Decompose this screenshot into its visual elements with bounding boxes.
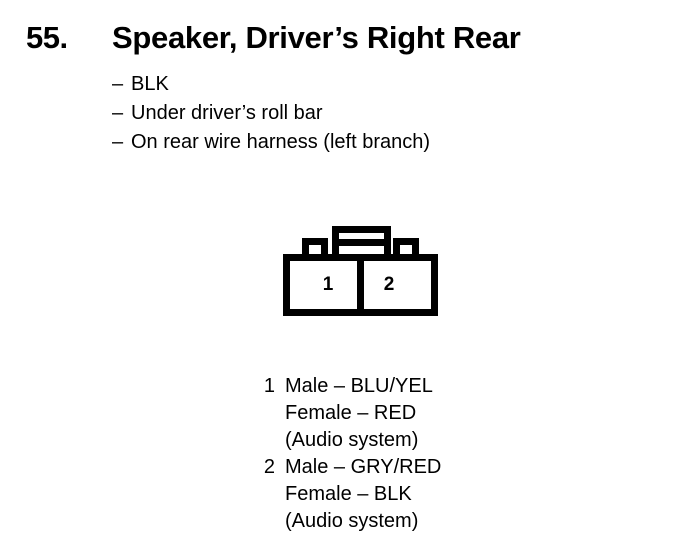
legend-pin-details: Male – BLU/YEL Female – RED (Audio syste…: [275, 373, 433, 454]
dash-icon: –: [112, 99, 131, 128]
list-item: – Under driver’s roll bar: [112, 99, 612, 128]
legend-row: 2 Male – GRY/RED Female – BLK (Audio sys…: [249, 454, 549, 535]
page-header: 55. Speaker, Driver’s Right Rear: [0, 18, 688, 60]
legend-pin-number: 2: [249, 454, 275, 481]
legend-line-system: (Audio system): [285, 427, 433, 454]
description-list: – BLK – Under driver’s roll bar – On rea…: [112, 70, 612, 157]
legend-line-female: Female – RED: [285, 400, 433, 427]
legend-line-system: (Audio system): [285, 508, 441, 535]
legend-line-male: Male – BLU/YEL: [285, 373, 433, 400]
connector-diagram: 1 2: [281, 226, 443, 321]
list-item-label: Under driver’s roll bar: [131, 99, 323, 128]
pin-legend: 1 Male – BLU/YEL Female – RED (Audio sys…: [249, 373, 549, 535]
dash-icon: –: [112, 70, 131, 99]
legend-row: 1 Male – BLU/YEL Female – RED (Audio sys…: [249, 373, 549, 454]
list-item-label: On rear wire harness (left branch): [131, 128, 430, 157]
legend-pin-number: 1: [249, 373, 275, 400]
connector-latch-slot: [338, 239, 385, 246]
dash-icon: –: [112, 128, 131, 157]
connector-cavity-label-2: 2: [377, 273, 401, 297]
connector-cavity-label-1: 1: [316, 273, 340, 297]
connector-cavity-divider: [357, 254, 364, 316]
legend-line-male: Male – GRY/RED: [285, 454, 441, 481]
list-item: – BLK: [112, 70, 612, 99]
legend-pin-details: Male – GRY/RED Female – BLK (Audio syste…: [275, 454, 441, 535]
item-number: 55.: [26, 18, 68, 58]
legend-line-female: Female – BLK: [285, 481, 441, 508]
page-title: Speaker, Driver’s Right Rear: [112, 18, 521, 58]
list-item-label: BLK: [131, 70, 169, 99]
list-item: – On rear wire harness (left branch): [112, 128, 612, 157]
